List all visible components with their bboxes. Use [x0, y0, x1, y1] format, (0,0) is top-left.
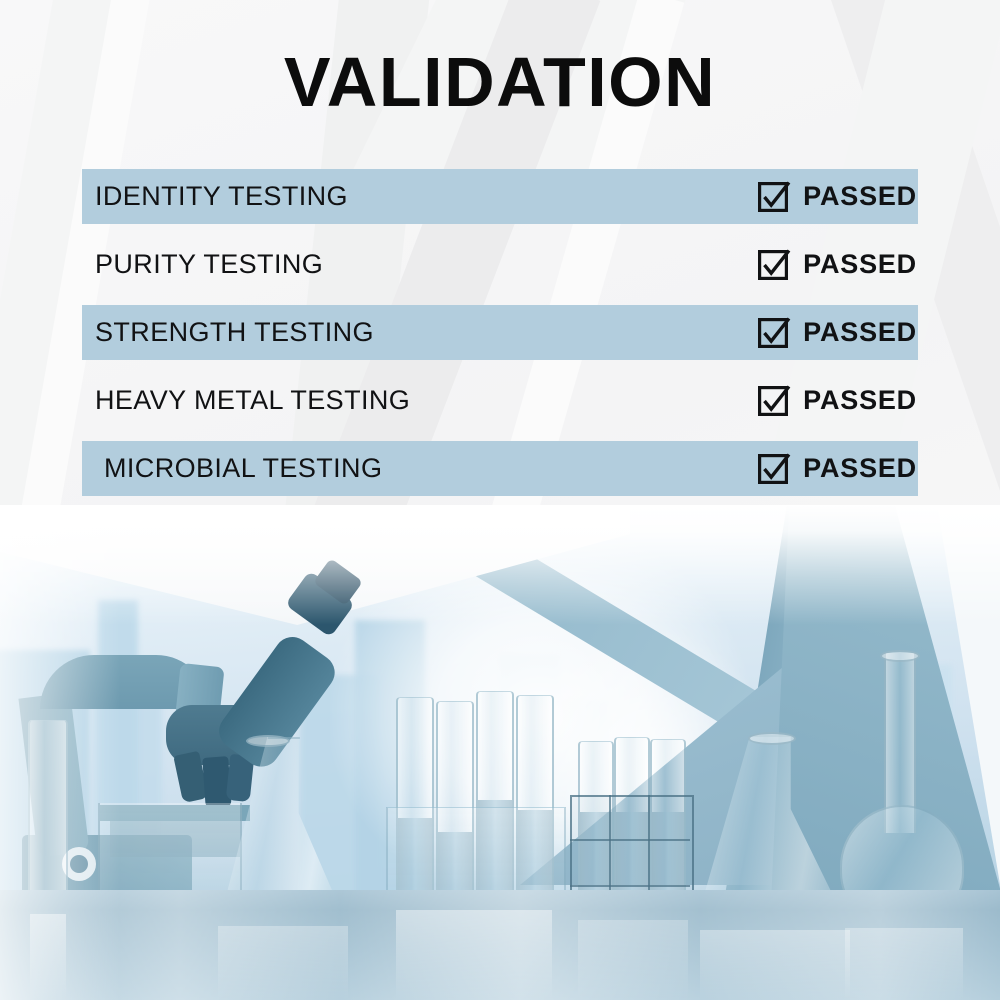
checkbox-checked-icon[interactable]: [758, 454, 788, 484]
checklist-row[interactable]: HEAVY METAL TESTING PASSED: [82, 373, 918, 428]
test-tube-rack-bar: [570, 839, 690, 841]
reflection: [396, 910, 552, 1000]
status-label: PASSED: [803, 317, 917, 348]
status-label: PASSED: [803, 385, 917, 416]
erlenmeyer-flask-large-rim: [748, 732, 796, 745]
test-name-label: STRENGTH TESTING: [95, 317, 374, 348]
test-name-label: IDENTITY TESTING: [95, 181, 348, 212]
checklist-row[interactable]: PURITY TESTING PASSED: [82, 237, 918, 292]
laboratory-photo: [0, 505, 1000, 1000]
test-name-label: MICROBIAL TESTING: [104, 453, 382, 484]
test-status: PASSED: [758, 237, 918, 292]
test-tube-rack-bar: [570, 885, 690, 887]
reflection: [30, 914, 66, 1000]
status-label: PASSED: [803, 181, 917, 212]
reflection: [578, 920, 688, 1000]
checklist-row[interactable]: MICROBIAL TESTING PASSED: [82, 441, 918, 496]
test-name-label: PURITY TESTING: [95, 249, 323, 280]
volumetric-flask-rim: [880, 650, 920, 662]
status-label: PASSED: [803, 249, 917, 280]
test-status: PASSED: [758, 305, 918, 360]
test-status: PASSED: [758, 169, 918, 224]
checkbox-checked-icon[interactable]: [758, 386, 788, 416]
reflection: [218, 926, 348, 1000]
test-name-label: HEAVY METAL TESTING: [95, 385, 410, 416]
test-status: PASSED: [758, 373, 918, 428]
checklist-row[interactable]: IDENTITY TESTING PASSED: [82, 169, 918, 224]
checklist-row[interactable]: STRENGTH TESTING PASSED: [82, 305, 918, 360]
validation-checklist: IDENTITY TESTING PASSED PURITY TESTING: [82, 169, 918, 509]
test-status: PASSED: [758, 441, 918, 496]
validation-infographic: VALIDATION IDENTITY TESTING PASSED PURIT…: [0, 0, 1000, 1000]
checkbox-checked-icon[interactable]: [758, 250, 788, 280]
checkbox-checked-icon[interactable]: [758, 182, 788, 212]
checkbox-checked-icon[interactable]: [758, 318, 788, 348]
status-label: PASSED: [803, 453, 917, 484]
reflection: [845, 928, 963, 1000]
page-title: VALIDATION: [0, 42, 1000, 122]
reflection: [700, 930, 850, 1000]
